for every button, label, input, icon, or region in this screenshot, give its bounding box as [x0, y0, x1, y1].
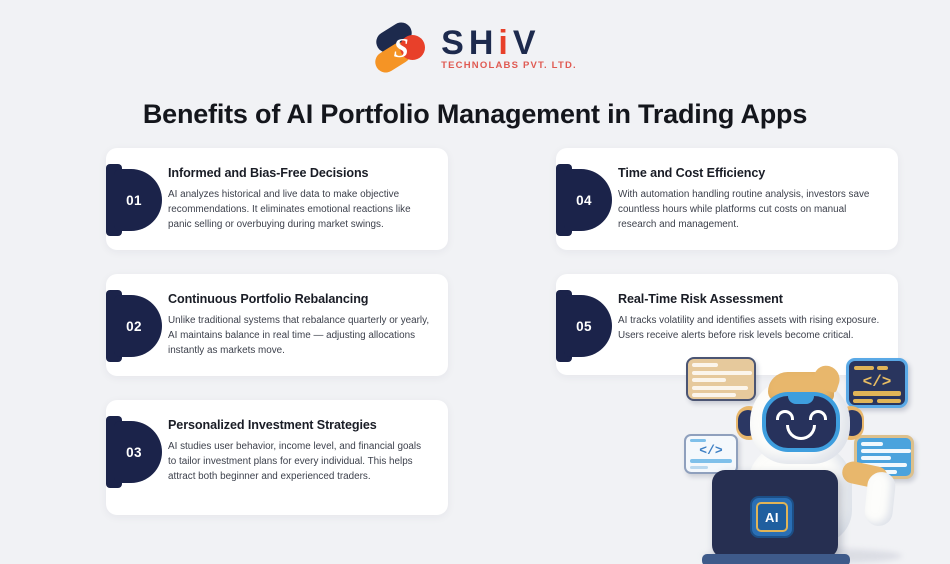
benefit-row: 03 Personalized Investment Strategies AI… [88, 400, 448, 515]
benefit-title: Continuous Portfolio Rebalancing [168, 292, 432, 306]
tan-document-card-icon [686, 357, 756, 401]
benefit-title: Personalized Investment Strategies [168, 418, 432, 432]
brand-wordmark: SHiV [441, 26, 577, 60]
badge-number: 04 [564, 169, 604, 231]
code-glyph: </> [849, 373, 905, 391]
benefit-row: 04 Time and Cost Efficiency With automat… [538, 148, 898, 250]
number-badge-02: 02 [106, 290, 162, 362]
robot-hand-right [863, 471, 896, 528]
benefit-card-01[interactable]: 01 Informed and Bias-Free Decisions AI a… [106, 148, 448, 250]
benefit-body: Unlike traditional systems that rebalanc… [168, 313, 432, 358]
badge-number: 02 [114, 295, 154, 357]
benefit-title: Time and Cost Efficiency [618, 166, 882, 180]
brand-tagline: TECHNOLABS PVT. LTD. [441, 61, 577, 71]
code-glyph: </> [686, 443, 736, 458]
logo-mark-letter: S [391, 32, 411, 64]
ai-robot-illustration: </> </> [668, 352, 950, 564]
badge-number: 01 [114, 169, 154, 231]
benefit-body: AI analyzes historical and live data to … [168, 187, 432, 232]
badge-number: 05 [564, 295, 604, 357]
navy-code-card-icon: </> [846, 358, 908, 408]
benefit-title: Informed and Bias-Free Decisions [168, 166, 432, 180]
infographic-page: S SHiV TECHNOLABS PVT. LTD. Benefits of … [0, 0, 950, 564]
page-title: Benefits of AI Portfolio Management in T… [0, 99, 950, 130]
benefit-body: AI tracks volatility and identifies asse… [618, 313, 882, 343]
benefits-column-left: 01 Informed and Bias-Free Decisions AI a… [88, 148, 448, 539]
badge-number: 03 [114, 421, 154, 483]
brand-wordmark-part1: SH [441, 26, 498, 60]
number-badge-01: 01 [106, 164, 162, 236]
benefit-card-04[interactable]: 04 Time and Cost Efficiency With automat… [556, 148, 898, 250]
benefit-row: 01 Informed and Bias-Free Decisions AI a… [88, 148, 448, 250]
light-code-card-icon: </> [684, 434, 738, 474]
shiv-logo-icon: S [373, 24, 431, 72]
laptop-base [702, 554, 850, 564]
benefit-body: With automation handling routine analysi… [618, 187, 882, 232]
benefit-body: AI studies user behavior, income level, … [168, 439, 432, 484]
brand-wordmark-accent: i [498, 26, 512, 60]
benefit-card-03[interactable]: 03 Personalized Investment Strategies AI… [106, 400, 448, 515]
robot-face-notch [788, 394, 814, 404]
number-badge-04: 04 [556, 164, 612, 236]
benefit-card-02[interactable]: 02 Continuous Portfolio Rebalancing Unli… [106, 274, 448, 376]
number-badge-03: 03 [106, 416, 162, 488]
benefit-title: Real-Time Risk Assessment [618, 292, 882, 306]
brand-logo: S SHiV TECHNOLABS PVT. LTD. [0, 24, 950, 72]
ai-chip-label: AI [756, 502, 788, 532]
number-badge-05: 05 [556, 290, 612, 362]
benefit-row: 02 Continuous Portfolio Rebalancing Unli… [88, 274, 448, 376]
brand-wordmark-part3: V [513, 26, 541, 60]
